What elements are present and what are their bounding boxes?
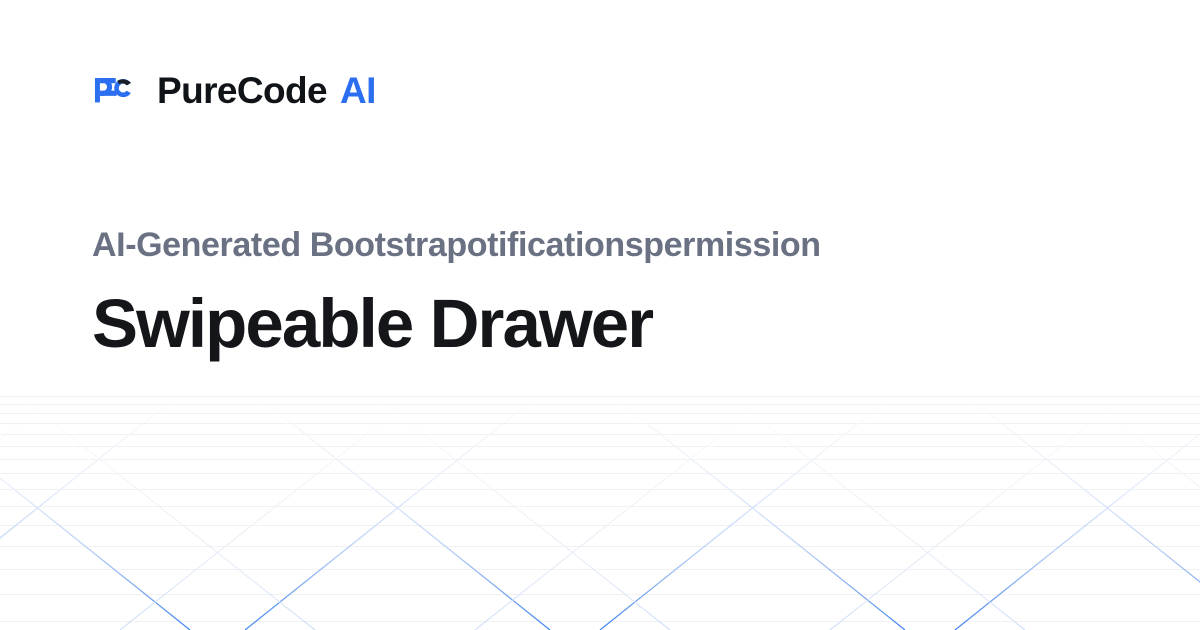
brand-name-purecode: PureCode [157,72,327,109]
brand-name-ai: AI [340,72,376,109]
purecode-pc-logo-icon [92,68,140,112]
eyebrow-text: AI-Generated Bootstrapotificationspermis… [92,226,1108,265]
headline-block: AI-Generated Bootstrapotificationspermis… [92,226,1108,360]
og-card: PureCode AI AI-Generated Bootstrapotific… [0,0,1200,630]
brand-lockup[interactable]: PureCode AI [92,62,1108,118]
brand-wordmark: PureCode AI [157,72,376,109]
page-title: Swipeable Drawer [92,287,1108,360]
